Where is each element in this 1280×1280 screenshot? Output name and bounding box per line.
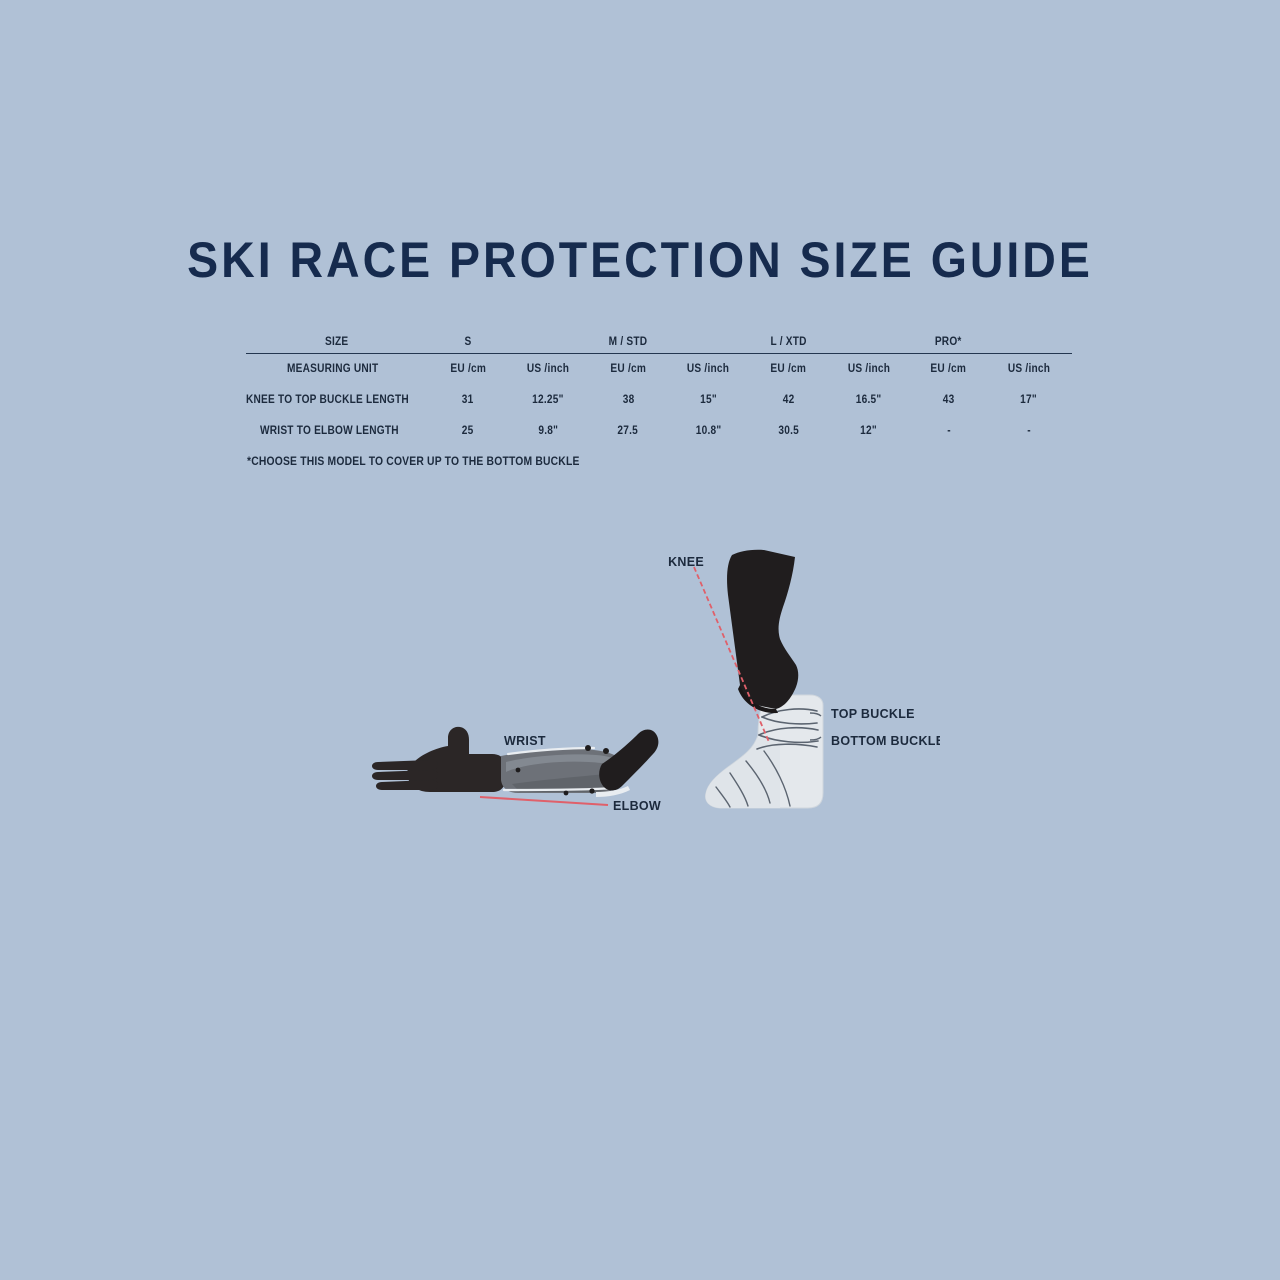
table-cell: - bbox=[912, 416, 985, 447]
table-header-size-pro: PRO* bbox=[912, 330, 985, 353]
table-row-label: KNEE TO TOP BUCKLE LENGTH bbox=[246, 385, 431, 416]
illustration-group: KNEE TOP BUCKLE BOTTOM BUCKLE bbox=[0, 0, 1280, 1280]
guard-strap-rivets bbox=[516, 745, 609, 795]
table-cell: 30.5 bbox=[752, 416, 826, 447]
ski-boot-lower-shell bbox=[706, 738, 780, 808]
table-unit-l-us: US /inch bbox=[825, 354, 912, 385]
bottom-buckle-label: BOTTOM BUCKLE bbox=[831, 734, 940, 748]
table-unit-m-us: US /inch bbox=[665, 354, 752, 385]
table-cell: 27.5 bbox=[591, 416, 665, 447]
glove-hand-shape bbox=[372, 727, 505, 792]
table-footnote: *CHOOSE THIS MODEL TO COVER UP TO THE BO… bbox=[247, 456, 617, 468]
table-unit-m-eu: EU /cm bbox=[591, 354, 665, 385]
table-header-row-sizes: SIZE S M / STD L / XTD PRO* bbox=[246, 330, 1072, 353]
table-cell: 43 bbox=[912, 385, 985, 416]
table-cell: 9.8" bbox=[505, 416, 592, 447]
table-spacer-s bbox=[505, 330, 592, 353]
knee-measure-line bbox=[694, 567, 769, 742]
table-cell: 38 bbox=[591, 385, 665, 416]
table-unit-s-eu: EU /cm bbox=[431, 354, 504, 385]
table-row-label: WRIST TO ELBOW LENGTH bbox=[246, 416, 431, 447]
ski-boot-buckle-lines bbox=[757, 709, 818, 749]
table-row: WRIST TO ELBOW LENGTH 25 9.8" 27.5 10.8" bbox=[246, 416, 1072, 447]
guard-trim-lines bbox=[504, 748, 616, 790]
table-unit-s-us: US /inch bbox=[505, 354, 592, 385]
table-cell: 10.8" bbox=[665, 416, 752, 447]
page-title: SKI RACE PROTECTION SIZE GUIDE bbox=[45, 232, 1235, 288]
table-cell: 17" bbox=[985, 385, 1072, 416]
table-cell: 15" bbox=[665, 385, 752, 416]
arm-illustration: WRIST ELBOW bbox=[370, 718, 670, 828]
size-guide-page: SKI RACE PROTECTION SIZE GUIDE SIZE S M … bbox=[0, 0, 1280, 1280]
table-header-size-s: S bbox=[431, 330, 504, 353]
knee-label: KNEE bbox=[668, 555, 704, 569]
table-cell: 12.25" bbox=[505, 385, 592, 416]
table-row-measuring-unit: MEASURING UNIT EU /cm US /inch EU /cm US… bbox=[246, 354, 1072, 385]
table-label-measuring-unit: MEASURING UNIT bbox=[246, 354, 431, 385]
table-cell: 42 bbox=[752, 385, 826, 416]
table-cell: 16.5" bbox=[825, 385, 912, 416]
size-guide-table: SIZE S M / STD L / XTD PRO* bbox=[246, 330, 1072, 447]
table-unit-pro-eu: EU /cm bbox=[912, 354, 985, 385]
table-cell: 25 bbox=[431, 416, 504, 447]
table-header-size-l: L / XTD bbox=[752, 330, 826, 353]
table-header-size: SIZE bbox=[246, 330, 431, 353]
ski-boot-shell-lines bbox=[716, 751, 790, 807]
forearm-guard-shape bbox=[501, 749, 626, 793]
buckle-leader-marks bbox=[810, 713, 821, 740]
forearm-guard-highlight bbox=[506, 754, 624, 772]
table-row: KNEE TO TOP BUCKLE LENGTH 31 12.25" 38 1… bbox=[246, 385, 1072, 416]
table-cell: 12" bbox=[825, 416, 912, 447]
table-spacer-pro bbox=[985, 330, 1072, 353]
table-spacer-l bbox=[825, 330, 912, 353]
table-spacer-m bbox=[665, 330, 752, 353]
wrist-elbow-measure-line bbox=[480, 797, 608, 805]
ski-boot-shape bbox=[706, 695, 823, 808]
size-guide-table-container: SIZE S M / STD L / XTD PRO* bbox=[246, 330, 1072, 447]
wrist-label: WRIST bbox=[504, 734, 546, 748]
elbow-cuff-trim bbox=[596, 786, 630, 797]
shin-guard-shape bbox=[727, 550, 798, 709]
top-buckle-label: TOP BUCKLE bbox=[831, 707, 915, 721]
forearm-guard-shadow bbox=[512, 773, 618, 792]
table-unit-l-eu: EU /cm bbox=[752, 354, 826, 385]
table-header-size-m: M / STD bbox=[591, 330, 665, 353]
table-cell: 31 bbox=[431, 385, 504, 416]
leg-illustration: KNEE TOP BUCKLE BOTTOM BUCKLE bbox=[660, 535, 940, 825]
table-cell: - bbox=[985, 416, 1072, 447]
shin-guard-bottom-edge bbox=[738, 685, 778, 713]
upper-arm-sleeve-shape bbox=[599, 730, 658, 791]
table-unit-pro-us: US /inch bbox=[985, 354, 1072, 385]
elbow-label: ELBOW bbox=[613, 799, 661, 813]
